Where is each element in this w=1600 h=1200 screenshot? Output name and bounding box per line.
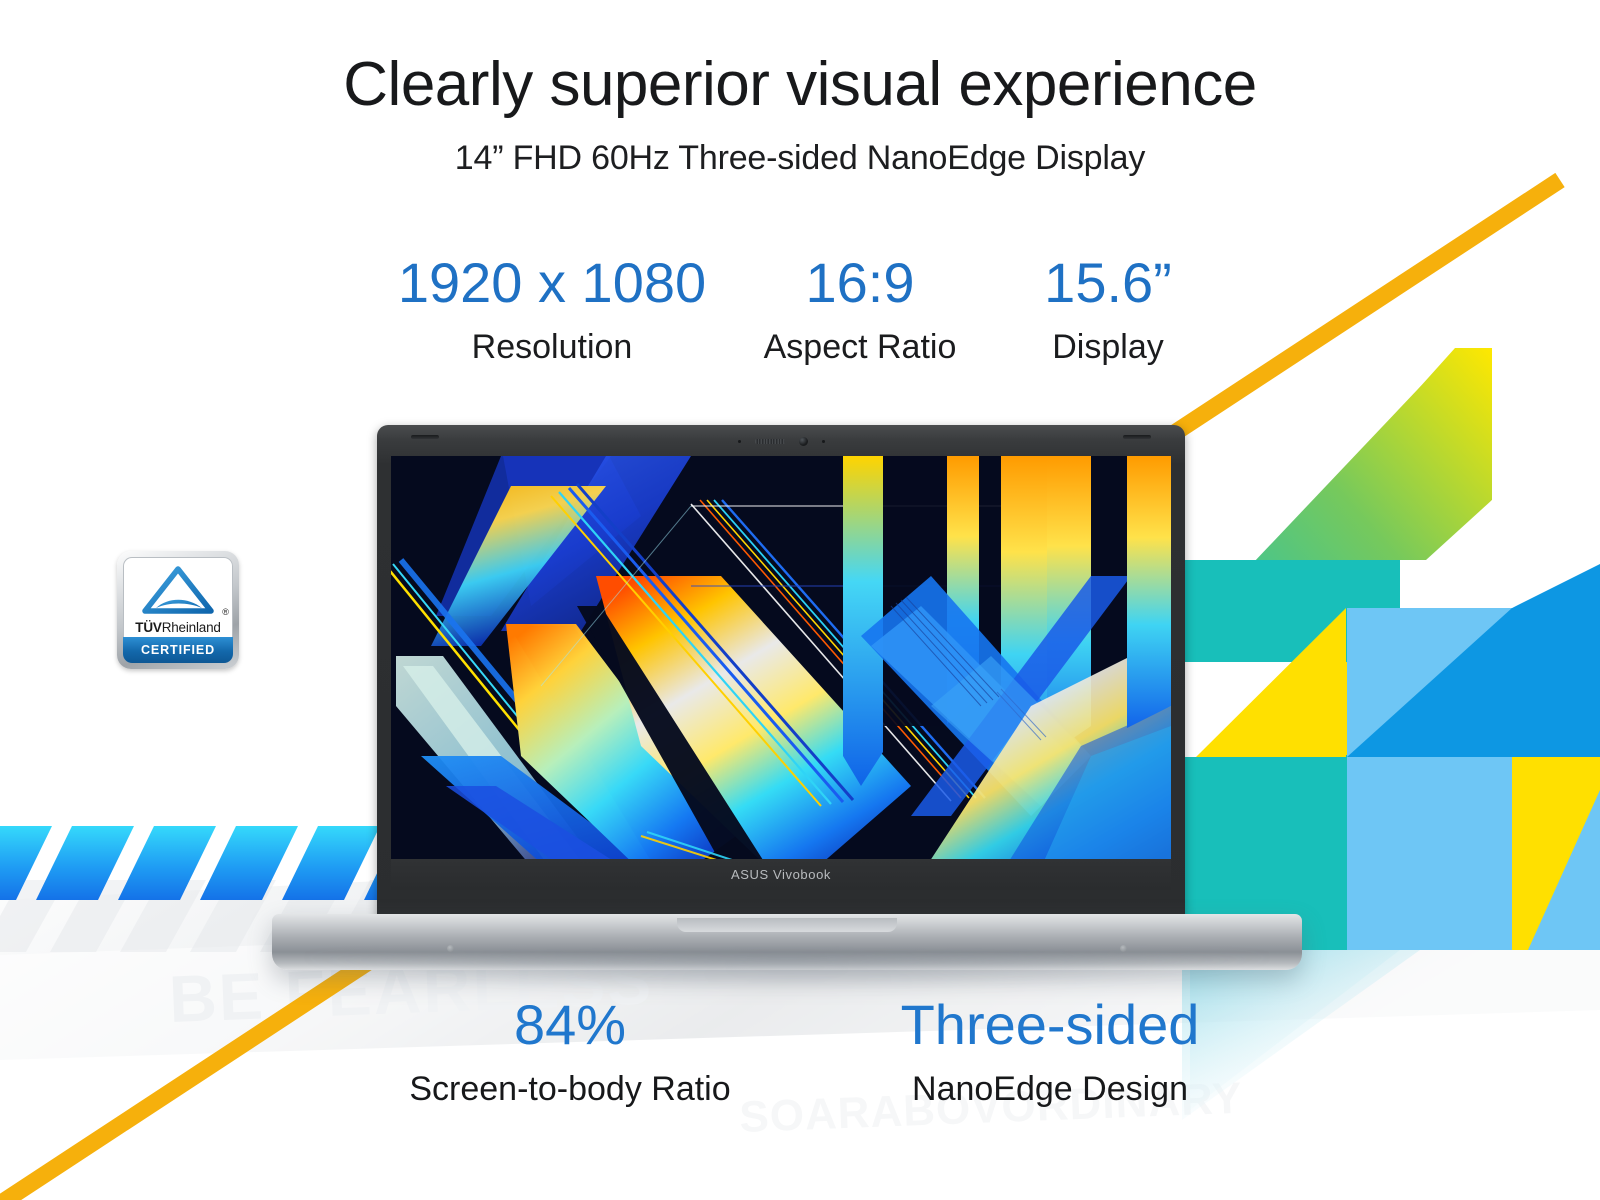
spec-display-size-label: Display [983,329,1233,366]
mic-slot-left-icon [411,435,439,439]
webcam-strip [377,433,1185,449]
page-title: Clearly superior visual experience [0,52,1600,119]
spec-screen-to-body-label: Screen-to-body Ratio [320,1071,820,1108]
registered-mark-icon: ® [222,607,228,617]
spec-aspect-ratio: 16:9 Aspect Ratio [737,254,983,366]
spec-display-size-value: 15.6” [983,254,1233,313]
spec-screen-to-body: 84% Screen-to-body Ratio [320,996,820,1108]
spec-nanoedge: Three-sided NanoEdge Design [820,996,1280,1108]
base-screw-right-icon [1120,945,1127,952]
base-center-notch [677,918,897,932]
spec-aspect-ratio-value: 16:9 [737,254,983,313]
spec-resolution-value: 1920 x 1080 [367,254,737,313]
indicator-dot-icon [822,440,825,443]
tuv-brand-text: TÜVRheinland® [135,620,220,635]
laptop-product-image: ASUS Vivobook [272,425,1302,970]
laptop-drop-shadow [302,954,1272,990]
top-spec-row: 1920 x 1080 Resolution 16:9 Aspect Ratio… [0,254,1600,366]
spec-resolution-label: Resolution [367,329,737,366]
spec-resolution: 1920 x 1080 Resolution [367,254,737,366]
spec-nanoedge-label: NanoEdge Design [820,1071,1280,1108]
laptop-screen: ASUS Vivobook [391,456,1171,890]
spec-nanoedge-value: Three-sided [820,996,1280,1055]
spec-screen-to-body-value: 84% [320,996,820,1055]
bottom-spec-row: 84% Screen-to-body Ratio Three-sided Nan… [0,996,1600,1108]
promo-banner: BE FEARLESS SOARABOVORDINARY [0,0,1600,1200]
wallpaper [391,456,1171,890]
tuv-certified-bar: CERTIFIED [123,637,233,663]
base-screw-left-icon [447,945,454,952]
spec-aspect-ratio-label: Aspect Ratio [737,329,983,366]
webcam-icon [799,437,808,446]
header: Clearly superior visual experience 14” F… [0,52,1600,178]
tuv-brand-uv: TÜV [135,620,161,635]
spec-display-size: 15.6” Display [983,254,1233,366]
page-subtitle: 14” FHD 60Hz Three-sided NanoEdge Displa… [0,139,1600,178]
tuv-brand-rheinland: Rheinland [162,620,221,635]
screen-bottom-bezel: ASUS Vivobook [391,859,1171,890]
privacy-shutter-icon [755,439,785,444]
asus-vivobook-logo: ASUS Vivobook [731,867,831,882]
indicator-dot-icon [738,440,741,443]
mic-slot-right-icon [1123,435,1151,439]
tuv-triangle-icon [142,566,214,619]
tuv-rheinland-certified-badge: TÜVRheinland® CERTIFIED [117,551,239,669]
laptop-lid: ASUS Vivobook [377,425,1185,922]
